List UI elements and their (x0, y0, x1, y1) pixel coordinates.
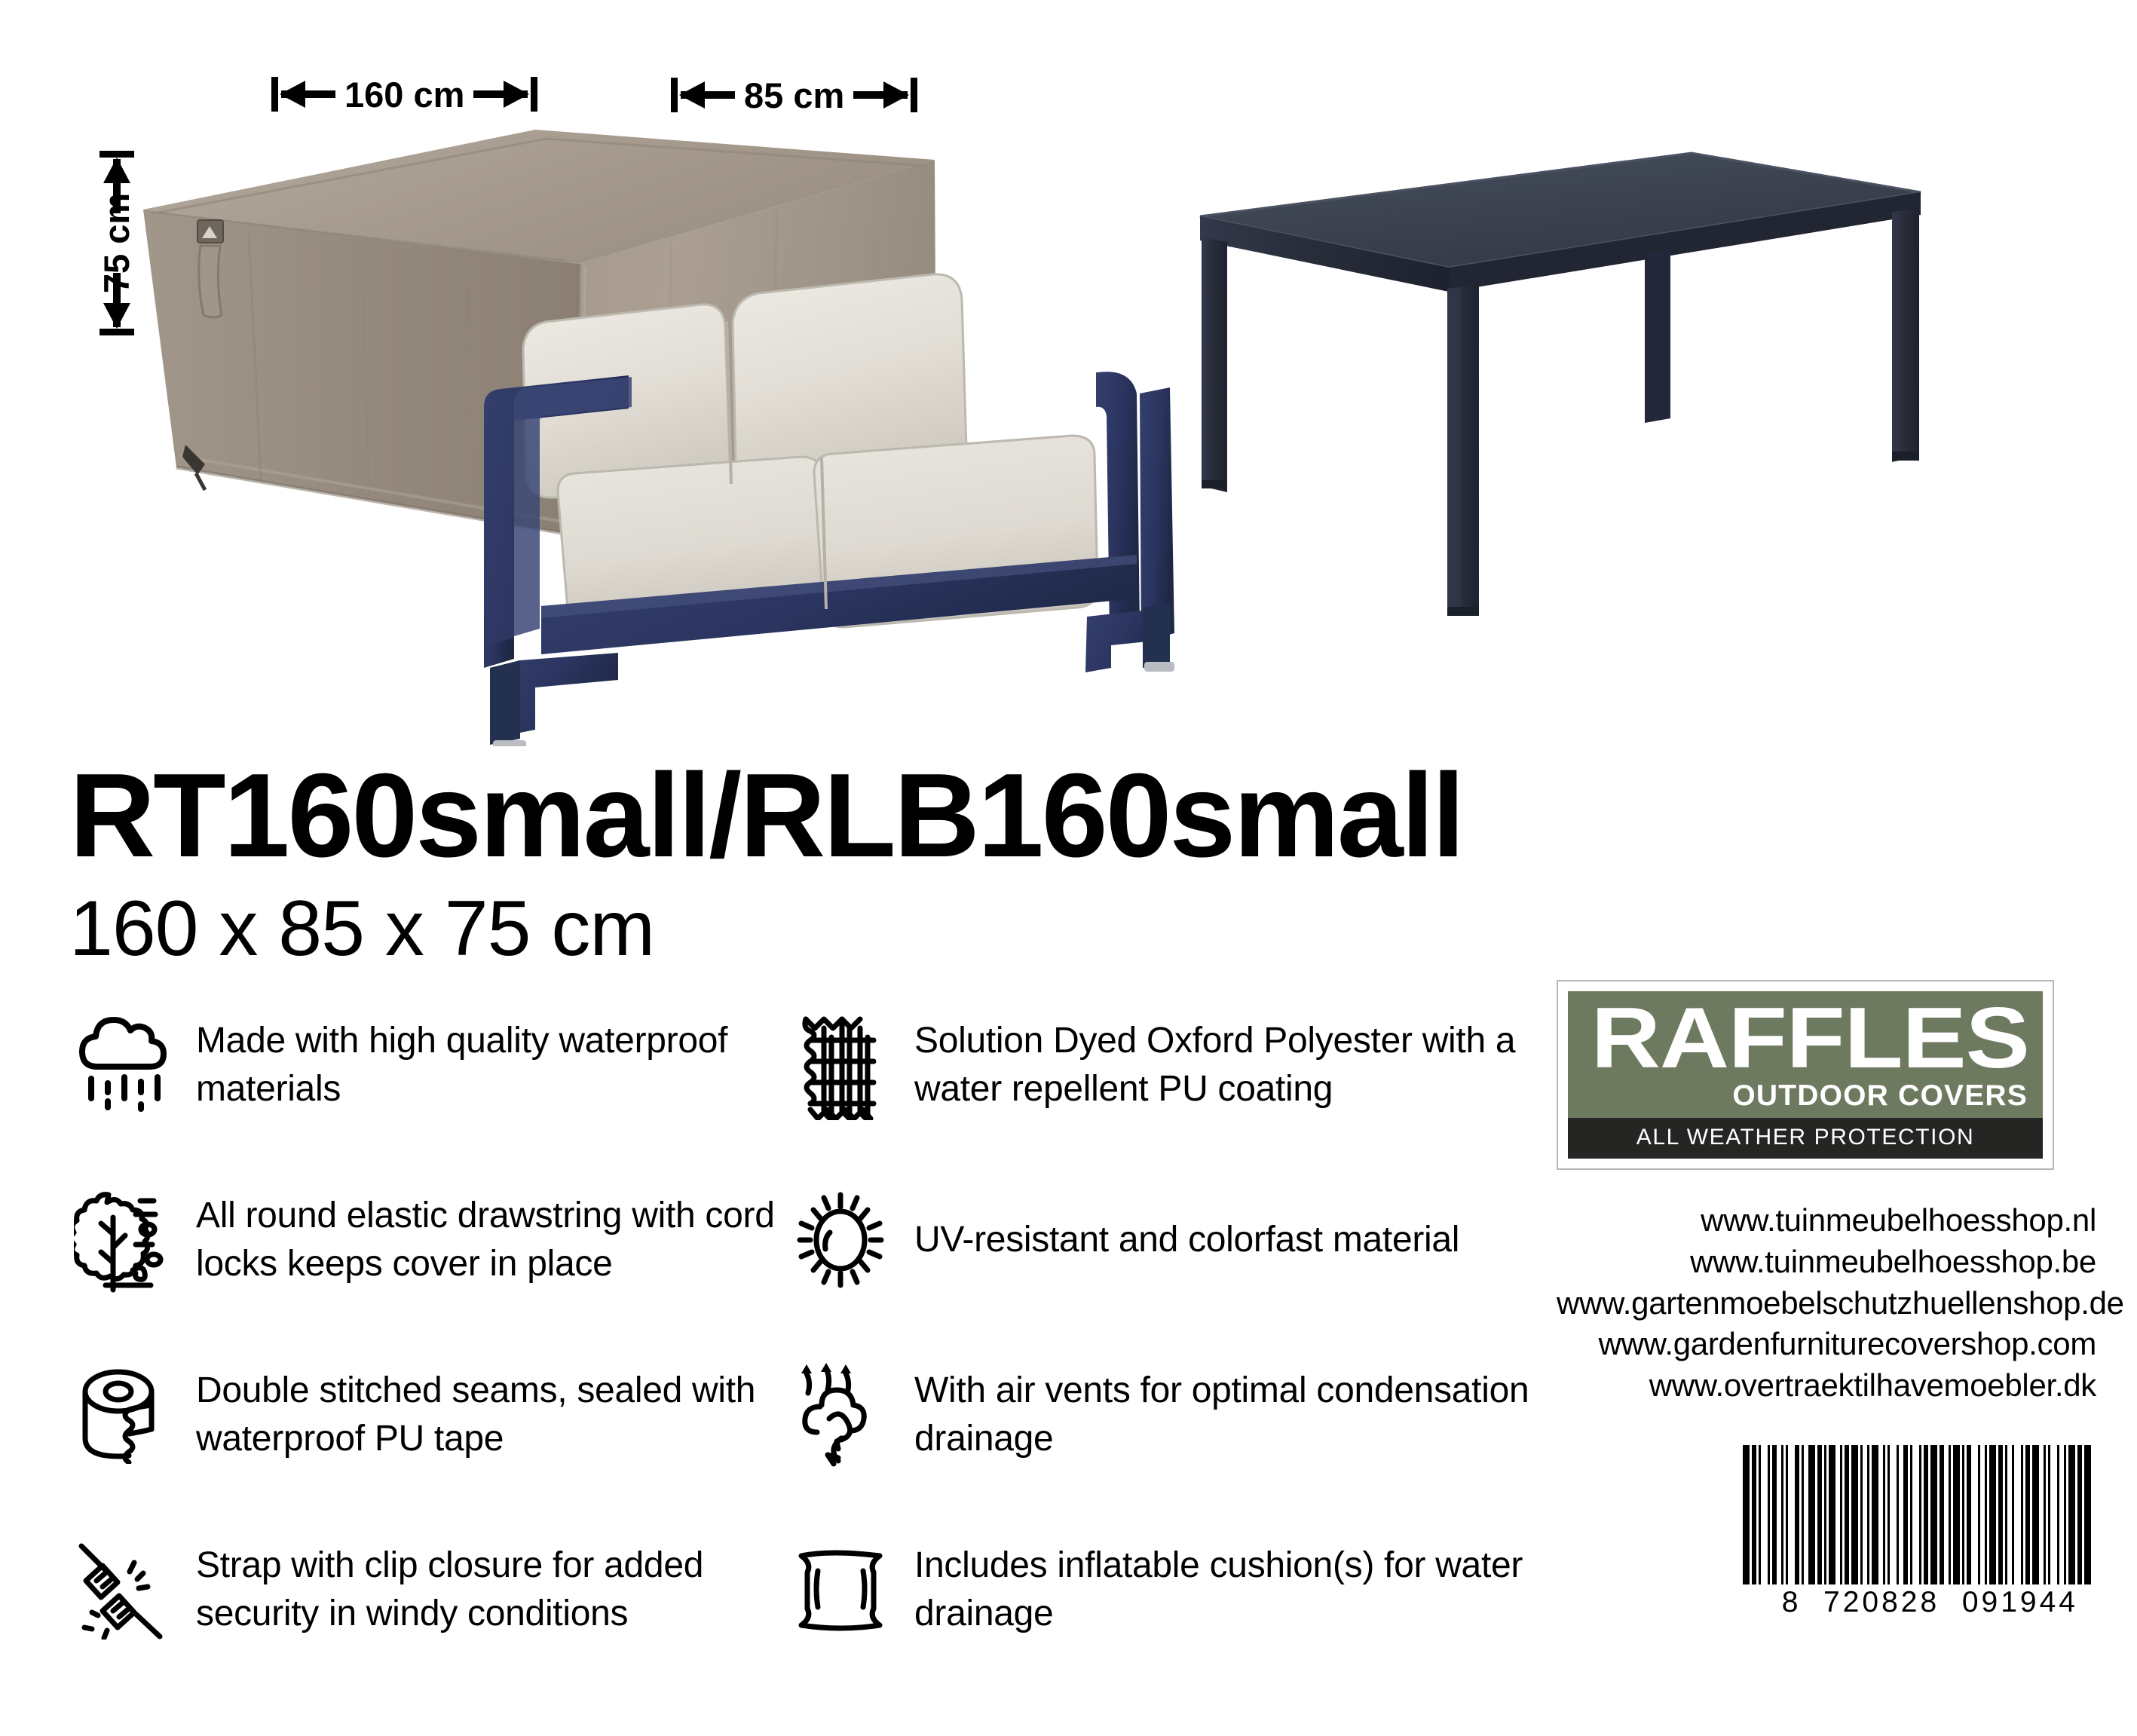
tape-roll-icon (69, 1358, 176, 1471)
feature-text: Made with high quality waterproof materi… (196, 1017, 823, 1113)
tick-mark (100, 151, 134, 158)
feature-column-right: Solution Dyed Oxford Polyester with a wa… (788, 984, 1542, 1683)
arrow-down-icon (113, 273, 121, 327)
website-de[interactable]: www.gartenmoebelschutzhuellenshop.de (1557, 1283, 2096, 1324)
feature-waterproof-materials: Made with high quality waterproof materi… (69, 984, 823, 1146)
garden-table-photo (1183, 139, 1937, 629)
feature-strap-clip-closure: Strap with clip closure for added securi… (69, 1508, 823, 1670)
logo-tagline-bar: ALL WEATHER PROTECTION (1568, 1118, 2043, 1159)
website-com[interactable]: www.gardenfurniturecovershop.com (1557, 1324, 2096, 1365)
arrow-right-icon (473, 90, 528, 98)
feature-text: Solution Dyed Oxford Polyester with a wa… (914, 1017, 1542, 1113)
feature-text: Double stitched seams, sealed with water… (196, 1367, 823, 1462)
feature-text: Strap with clip closure for added securi… (196, 1542, 823, 1637)
tick-mark (531, 77, 537, 112)
tick-mark (100, 329, 134, 335)
barcode: 8 720828 091944 (1557, 1445, 2099, 1619)
website-list: www.tuinmeubelhoesshop.nl www.tuinmeubel… (1557, 1200, 2099, 1406)
feature-elastic-drawstring: All round elastic drawstring with cord l… (69, 1159, 823, 1321)
product-code: RT160small/RLB160small (69, 754, 1652, 877)
website-dk[interactable]: www.overtraektilhavemoebler.dk (1557, 1365, 2096, 1407)
logo-green-block: RAFFLES OUTDOOR COVERS ALL WEATHER PROTE… (1568, 991, 2043, 1159)
barcode-bars (1743, 1445, 2093, 1584)
raffles-logo: RAFFLES OUTDOOR COVERS ALL WEATHER PROTE… (1557, 980, 2054, 1170)
feature-inflatable-cushion: Includes inflatable cushion(s) for water… (788, 1508, 1542, 1670)
website-nl[interactable]: www.tuinmeubelhoesshop.nl (1557, 1200, 2096, 1242)
tick-mark (271, 77, 278, 112)
feature-text: Includes inflatable cushion(s) for water… (914, 1542, 1542, 1637)
arrow-left-icon (281, 90, 335, 98)
logo-brand-name: RAFFLES (1591, 1001, 2029, 1076)
arrow-left-icon (681, 91, 735, 99)
logo-tagline: ALL WEATHER PROTECTION (1636, 1125, 1975, 1150)
tree-wind-icon (69, 1183, 176, 1297)
feature-double-stitched-seams: Double stitched seams, sealed with water… (69, 1333, 823, 1496)
dimension-callout-depth: 85 cm (671, 72, 957, 118)
arrow-right-icon (853, 91, 908, 99)
dimension-callout-height: 75 cm (72, 151, 162, 437)
feature-list: Made with high quality waterproof materi… (0, 984, 1545, 1685)
feature-text: UV-resistant and colorfast material (914, 1216, 1459, 1263)
dimension-callout-width: 160 cm (271, 72, 595, 117)
sun-icon (788, 1183, 895, 1297)
dimension-width-label: 160 cm (338, 74, 470, 115)
brand-panel: RAFFLES OUTDOOR COVERS ALL WEATHER PROTE… (1557, 980, 2099, 1619)
feature-column-left: Made with high quality waterproof materi… (69, 984, 823, 1683)
fabric-weave-icon (788, 1009, 895, 1122)
rain-cloud-icon (69, 1009, 176, 1122)
title-block: RT160small/RLB160small 160 x 85 x 75 cm (69, 754, 1652, 972)
cushion-icon (788, 1533, 895, 1646)
dimension-depth-label: 85 cm (738, 75, 850, 116)
product-dimensions: 160 x 85 x 75 cm (69, 886, 1652, 971)
barcode-number: 8 720828 091944 (1782, 1586, 2093, 1619)
product-imagery-area: 160 cm 85 cm 75 cm (0, 0, 2137, 754)
feature-oxford-polyester: Solution Dyed Oxford Polyester with a wa… (788, 984, 1542, 1146)
feature-uv-resistant: UV-resistant and colorfast material (788, 1159, 1542, 1321)
tick-mark (671, 78, 678, 112)
strap-clip-icon (69, 1533, 176, 1646)
tick-mark (911, 78, 917, 112)
feature-text: With air vents for optimal condensation … (914, 1367, 1542, 1462)
air-vent-cloud-icon (788, 1358, 895, 1471)
garden-sofa-photo (467, 249, 1266, 746)
feature-air-vents: With air vents for optimal condensation … (788, 1333, 1542, 1496)
website-be[interactable]: www.tuinmeubelhoesshop.be (1557, 1242, 2096, 1283)
feature-text: All round elastic drawstring with cord l… (196, 1192, 823, 1287)
